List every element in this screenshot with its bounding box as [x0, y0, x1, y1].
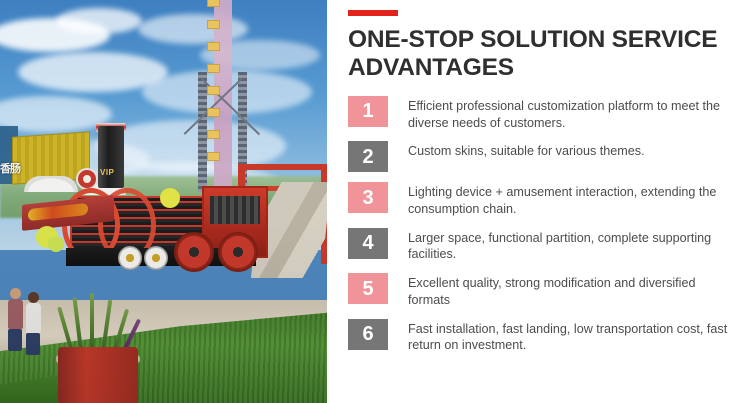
list-item: 2 Custom skins, suitable for various the…: [348, 141, 742, 172]
item-number-badge: 1: [348, 96, 388, 127]
smokestack: [98, 126, 124, 188]
item-number-badge: 4: [348, 228, 388, 259]
list-item: 3 Lighting device + amusement interactio…: [348, 182, 742, 217]
visitor-torso: [8, 299, 23, 329]
visitor-head: [10, 288, 21, 299]
planter-barrel: [58, 347, 138, 403]
locomotive-cab-window: [210, 196, 260, 224]
list-item: 6 Fast installation, fast landing, low t…: [348, 319, 742, 354]
tower-seat: [207, 130, 220, 139]
tower-seat: [207, 64, 220, 73]
visitor-torso: [26, 303, 41, 333]
vip-label: VIP: [100, 168, 114, 177]
visitor-legs: [26, 333, 40, 355]
tower-seat: [207, 86, 220, 95]
promo-banner: 香肠 VIP: [0, 0, 750, 403]
red-accent-bar: [348, 10, 398, 16]
tower-seat: [207, 20, 220, 29]
item-description: Larger space, functional partition, comp…: [408, 228, 728, 263]
page-title: ONE-STOP SOLUTION SERVICE ADVANTAGES: [348, 26, 742, 83]
content-panel: ONE-STOP SOLUTION SERVICE ADVANTAGES 1 E…: [327, 0, 750, 403]
balloon: [160, 188, 180, 208]
advantages-list: 1 Efficient professional customization p…: [348, 96, 742, 354]
item-description: Excellent quality, strong modification a…: [408, 273, 728, 308]
tower-seat: [207, 0, 220, 7]
item-description: Lighting device + amusement interaction,…: [408, 182, 728, 217]
item-number-badge: 3: [348, 182, 388, 213]
tower-seat: [207, 42, 220, 51]
balloon: [48, 236, 64, 252]
chinese-signage-text: 香肠: [0, 160, 20, 176]
visitor-figure: [26, 292, 41, 355]
tower-leg: [198, 72, 207, 192]
cloud-shape: [56, 8, 142, 34]
locomotive-small-wheel: [144, 246, 168, 270]
locomotive-drive-wheel: [174, 232, 214, 272]
tower-seat: [207, 108, 220, 117]
item-description: Fast installation, fast landing, low tra…: [408, 319, 728, 354]
visitor-figure: [8, 288, 23, 351]
list-item: 5 Excellent quality, strong modification…: [348, 273, 742, 308]
list-item: 4 Larger space, functional partition, co…: [348, 228, 742, 263]
tower-seat: [207, 152, 220, 161]
item-number-badge: 5: [348, 273, 388, 304]
item-number-badge: 2: [348, 141, 388, 172]
visitor-legs: [8, 329, 22, 351]
item-description: Efficient professional customization pla…: [408, 96, 728, 131]
item-description: Custom skins, suitable for various theme…: [408, 141, 645, 160]
list-item: 1 Efficient professional customization p…: [348, 96, 742, 131]
item-number-badge: 6: [348, 319, 388, 350]
locomotive-small-wheel: [118, 246, 142, 270]
locomotive-drive-wheel: [218, 232, 258, 272]
visitor-head: [28, 292, 39, 303]
product-photo: 香肠 VIP: [0, 0, 327, 403]
